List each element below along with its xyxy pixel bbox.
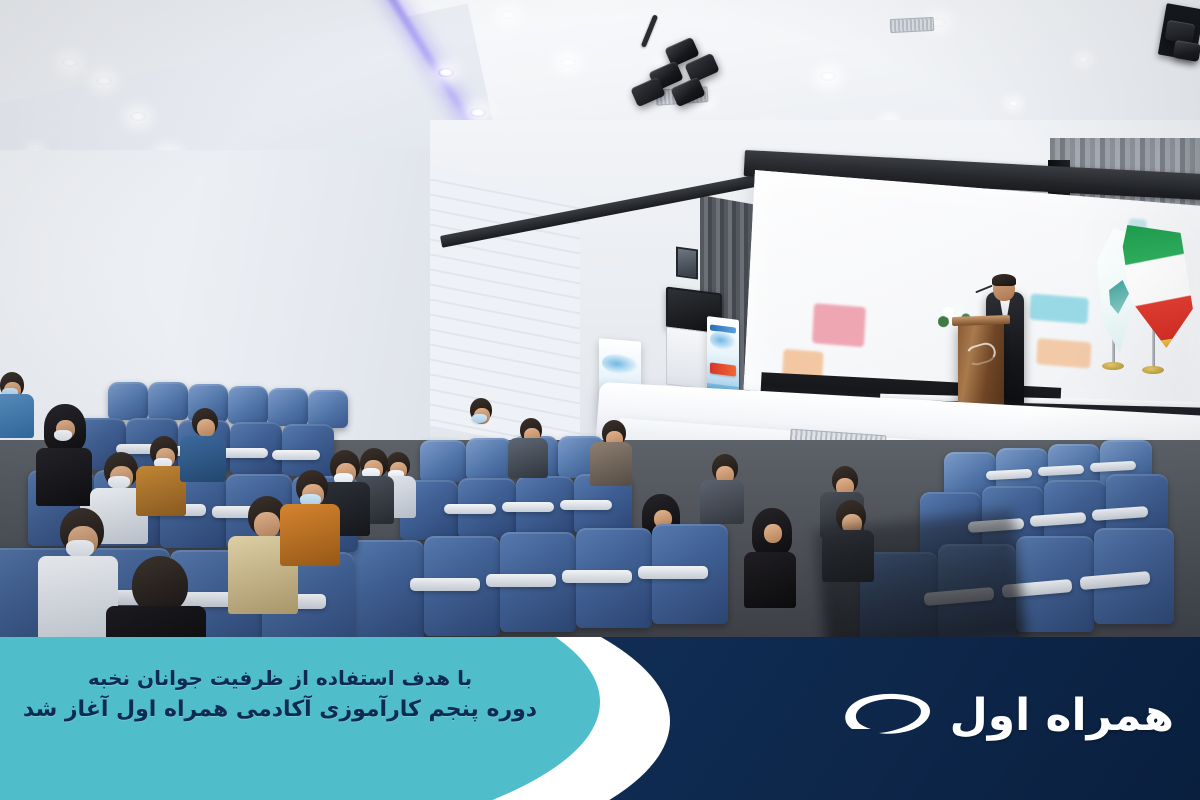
slide-block bbox=[1030, 294, 1089, 325]
event-photo bbox=[0, 0, 1200, 648]
ceiling-spotlight-icon bbox=[96, 76, 112, 85]
wall-ribbed-panel bbox=[430, 165, 580, 454]
speaker-hair bbox=[992, 274, 1016, 286]
screenshot-root: با هدف استفاده از ظرفیت جوانان نخبه دوره… bbox=[0, 0, 1200, 800]
banner-headline: با هدف استفاده از ظرفیت جوانان نخبه دوره… bbox=[0, 663, 560, 727]
brand-name: همراه اول bbox=[950, 694, 1174, 738]
ceiling-spotlight-icon bbox=[438, 68, 454, 77]
ceiling-spotlight-icon bbox=[820, 72, 836, 81]
slide-block bbox=[812, 303, 866, 347]
ceiling-spotlight-icon bbox=[560, 58, 576, 67]
flag-base bbox=[1102, 362, 1124, 370]
news-banner: با هدف استفاده از ظرفیت جوانان نخبه دوره… bbox=[0, 637, 1200, 800]
aisle-shadow bbox=[814, 510, 1026, 648]
wall-portrait bbox=[676, 246, 698, 279]
mci-swoosh-icon bbox=[838, 685, 934, 747]
ceiling-vent bbox=[890, 17, 935, 33]
ceiling-spotlight-icon bbox=[130, 112, 146, 121]
ceiling-spotlight-icon bbox=[1078, 56, 1089, 63]
slide-block bbox=[1037, 338, 1092, 368]
ceiling-spotlight-icon bbox=[62, 58, 78, 67]
ceiling-spotlight-icon bbox=[1008, 100, 1019, 107]
headline-line-1: با هدف استفاده از ظرفیت جوانان نخبه bbox=[0, 663, 560, 693]
ceiling-spotlight-icon bbox=[470, 108, 486, 117]
podium-mci-swoosh-icon bbox=[964, 340, 998, 367]
headline-line-2: دوره پنجم کارآموزی آکادمی همراه اول آغاز… bbox=[0, 693, 560, 726]
brand-lockup: همراه اول bbox=[838, 685, 1174, 747]
flag-base bbox=[1142, 366, 1164, 374]
ceiling-spotlight-icon bbox=[500, 10, 516, 19]
